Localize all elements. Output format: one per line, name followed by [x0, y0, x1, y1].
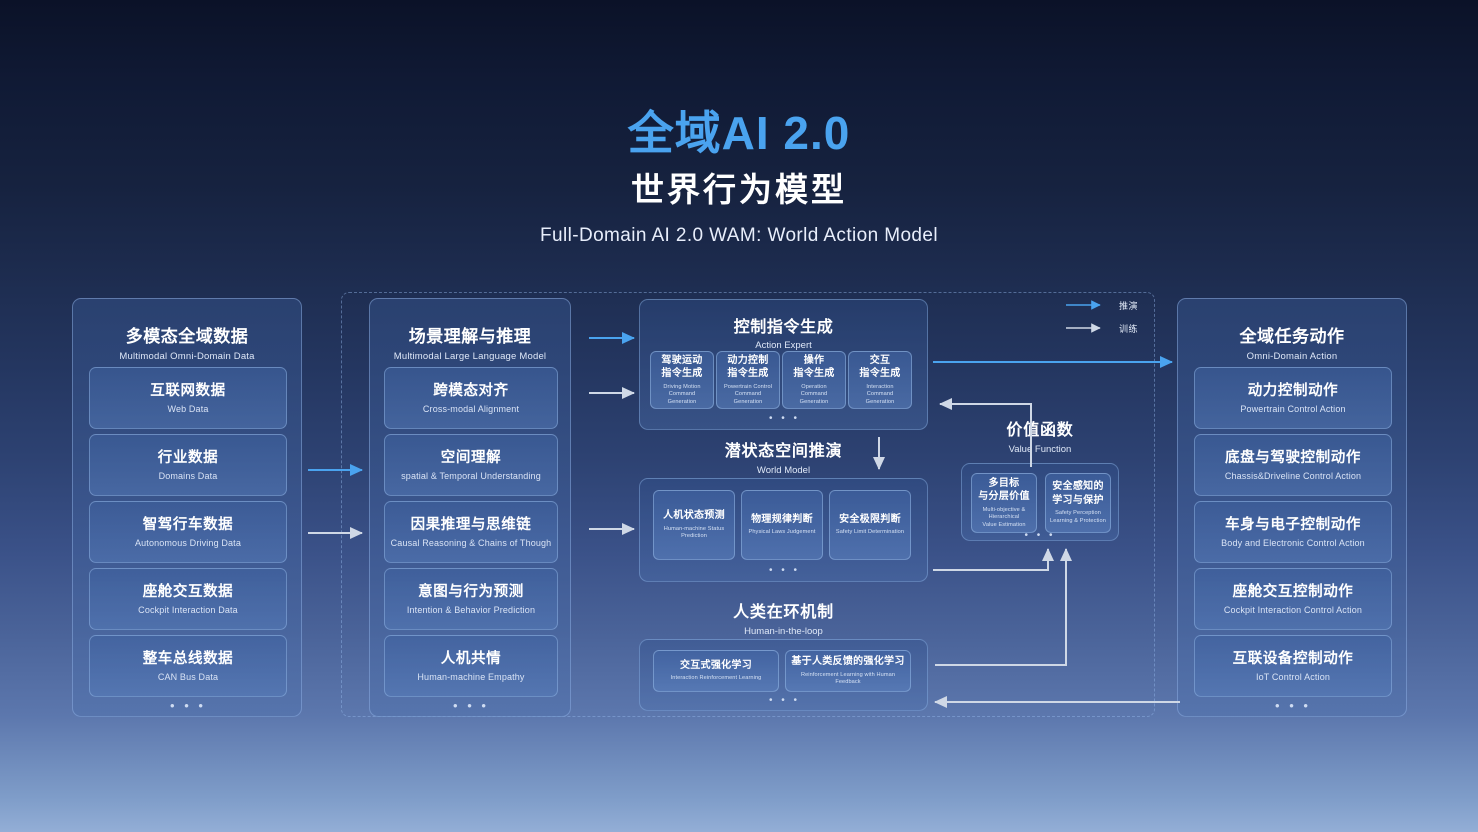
card-title: 底盘与驾驶控制动作	[1225, 449, 1361, 467]
minicard-sub-line1: Multi-objective & Hierarchical	[975, 507, 1033, 522]
minicard-sub-line1: Driving Motion	[663, 384, 700, 392]
card-title: 跨模态对齐	[433, 382, 509, 400]
card-title: 空间理解	[441, 449, 501, 467]
card-title: 互联设备控制动作	[1233, 650, 1354, 668]
minicard-title-line2: 与分层价值	[978, 490, 1030, 504]
card-subtitle: Cockpit Interaction Data	[138, 605, 238, 616]
minicard-sub-line2: Command Generation	[852, 391, 908, 406]
minicard-driving-motion-command[interactable]: 驾驶运动 指令生成 Driving Motion Command Generat…	[650, 351, 714, 409]
legend-item-training: 训练	[1066, 321, 1138, 335]
minicard-safety-perception-learning[interactable]: 安全感知的 学习与保护 Safety Perception Learning &…	[1045, 473, 1111, 533]
more-dots: • • •	[640, 696, 929, 706]
card-title: 因果推理与思维链	[411, 516, 532, 534]
minicard-title: 交互式强化学习	[680, 659, 752, 673]
card-title: 座舱交互数据	[143, 583, 234, 601]
minicard-title-line1: 动力控制	[727, 354, 768, 368]
card-title: 人机共情	[441, 650, 501, 668]
card-powertrain-control-action[interactable]: 动力控制动作 Powertrain Control Action	[1194, 367, 1392, 429]
card-subtitle: Causal Reasoning & Chains of Though	[391, 538, 552, 549]
minicard-title: 基于人类反馈的强化学习	[791, 655, 904, 669]
section-title-world-model: 潜状态空间推演 World Model	[639, 437, 928, 476]
more-dots: • • •	[1178, 699, 1408, 712]
card-subtitle: Cross-modal Alignment	[423, 404, 519, 415]
card-subtitle: IoT Control Action	[1256, 672, 1330, 683]
card-subtitle: Autonomous Driving Data	[135, 538, 241, 549]
minicard-human-machine-status-prediction[interactable]: 人机状态预测 Human-machine Status Prediction	[653, 490, 735, 560]
card-subtitle: Web Data	[167, 404, 208, 415]
minicard-title-line2: 指令生成	[727, 367, 768, 381]
section-title-value-function: 价值函数 Value Function	[960, 416, 1120, 455]
card-subtitle: Domains Data	[159, 471, 218, 482]
section-title-en: Value Function	[960, 444, 1120, 455]
minicard-multi-objective-hierarchical-value[interactable]: 多目标 与分层价值 Multi-objective & Hierarchical…	[971, 473, 1037, 533]
group-world-model: 人机状态预测 Human-machine Status Prediction 物…	[639, 478, 928, 582]
card-title: 车身与电子控制动作	[1225, 516, 1361, 534]
card-subtitle: Cockpit Interaction Control Action	[1224, 605, 1362, 616]
card-subtitle: Human-machine Empathy	[417, 672, 524, 683]
minicard-title: 安全极限判断	[839, 513, 901, 527]
card-title: 互联网数据	[150, 382, 226, 400]
panel-multimodal-data: 多模态全域数据 Multimodal Omni-Domain Data 互联网数…	[72, 298, 302, 717]
card-intention-behavior-prediction[interactable]: 意图与行为预测 Intention & Behavior Prediction	[384, 568, 558, 630]
card-cockpit-interaction-data[interactable]: 座舱交互数据 Cockpit Interaction Data	[89, 568, 287, 630]
section-title-cn: 价值函数	[960, 416, 1120, 440]
card-cross-modal-alignment[interactable]: 跨模态对齐 Cross-modal Alignment	[384, 367, 558, 429]
minicard-sub-line2: Command Generation	[786, 391, 842, 406]
minicard-interaction-reinforcement-learning[interactable]: 交互式强化学习 Interaction Reinforcement Learni…	[653, 650, 779, 692]
minicard-rlhf[interactable]: 基于人类反馈的强化学习 Reinforcement Learning with …	[785, 650, 911, 692]
minicard-sub-line1: Powertrain Control	[724, 384, 772, 392]
minicard-operation-command[interactable]: 操作 指令生成 Operation Command Generation	[782, 351, 846, 409]
page-subtitle-cn: 世界行为模型	[0, 171, 1478, 209]
card-human-machine-empathy[interactable]: 人机共情 Human-machine Empathy	[384, 635, 558, 697]
card-subtitle: CAN Bus Data	[158, 672, 218, 683]
group-action-expert-title: 控制指令生成	[640, 313, 927, 337]
card-can-bus-data[interactable]: 整车总线数据 CAN Bus Data	[89, 635, 287, 697]
card-subtitle: Body and Electronic Control Action	[1221, 538, 1365, 549]
minicard-title-line1: 交互	[870, 354, 891, 368]
title-block: 全域AI 2.0 世界行为模型 Full-Domain AI 2.0 WAM: …	[0, 108, 1478, 247]
card-web-data[interactable]: 互联网数据 Web Data	[89, 367, 287, 429]
minicard-subtitle: Interaction Reinforcement Learning	[671, 675, 762, 683]
card-title: 整车总线数据	[143, 650, 234, 668]
minicard-subtitle: Human-machine Status Prediction	[657, 526, 731, 541]
section-title-cn: 潜状态空间推演	[639, 437, 928, 461]
card-title: 座舱交互控制动作	[1233, 583, 1354, 601]
minicard-title-line1: 操作	[804, 354, 825, 368]
legend: 推演 训练	[1066, 298, 1138, 344]
group-action-expert: 控制指令生成 Action Expert 驾驶运动 指令生成 Driving M…	[639, 299, 928, 430]
group-human-in-loop: 交互式强化学习 Interaction Reinforcement Learni…	[639, 639, 928, 711]
card-causal-reasoning[interactable]: 因果推理与思维链 Causal Reasoning & Chains of Th…	[384, 501, 558, 563]
minicard-interaction-command[interactable]: 交互 指令生成 Interaction Command Generation	[848, 351, 912, 409]
panel-omni-domain-action-title: 全域任务动作	[1178, 322, 1406, 347]
card-spatial-understanding[interactable]: 空间理解 spatial & Temporal Understanding	[384, 434, 558, 496]
panel-scene-understanding: 场景理解与推理 Multimodal Large Language Model …	[369, 298, 571, 717]
card-subtitle: Intention & Behavior Prediction	[407, 605, 535, 616]
minicard-physical-laws-judgement[interactable]: 物理规律判断 Physical Laws Judgement	[741, 490, 823, 560]
minicard-subtitle: Reinforcement Learning with Human Feedba…	[789, 672, 907, 687]
card-title: 动力控制动作	[1248, 382, 1339, 400]
minicard-sub-line1: Operation	[801, 384, 826, 392]
more-dots: • • •	[640, 414, 929, 424]
more-dots: • • •	[961, 531, 1119, 541]
legend-label: 训练	[1119, 322, 1138, 335]
inference-arrow-icon	[1066, 299, 1108, 311]
minicard-sub-line2: Command Generation	[654, 391, 710, 406]
card-chassis-driveline-control-action[interactable]: 底盘与驾驶控制动作 Chassis&Driveline Control Acti…	[1194, 434, 1392, 496]
panel-multimodal-data-subtitle: Multimodal Omni-Domain Data	[73, 351, 301, 362]
more-dots: • • •	[73, 699, 303, 712]
card-iot-control-action[interactable]: 互联设备控制动作 IoT Control Action	[1194, 635, 1392, 697]
section-title-cn: 人类在环机制	[639, 598, 928, 622]
page-title-en: Full-Domain AI 2.0 WAM: World Action Mod…	[0, 225, 1478, 247]
card-subtitle: spatial & Temporal Understanding	[401, 471, 541, 482]
minicard-sub-line1: Safety Perception	[1055, 510, 1101, 518]
minicard-sub-line2: Value Estimation	[982, 522, 1025, 530]
minicard-sub-line2: Learning & Protection	[1050, 518, 1106, 526]
more-dots: • • •	[640, 566, 929, 576]
training-arrow-icon	[1066, 322, 1108, 334]
section-title-en: Human-in-the-loop	[639, 626, 928, 637]
card-autonomous-driving-data[interactable]: 智驾行车数据 Autonomous Driving Data	[89, 501, 287, 563]
minicard-title-line2: 指令生成	[793, 367, 834, 381]
minicard-powertrain-control-command[interactable]: 动力控制 指令生成 Powertrain Control Command Gen…	[716, 351, 780, 409]
minicard-title-line2: 指令生成	[661, 367, 702, 381]
minicard-subtitle: Physical Laws Judgement	[749, 529, 816, 537]
group-action-expert-subtitle: Action Expert	[640, 340, 927, 351]
minicard-sub-line2: Command Generation	[720, 391, 776, 406]
card-title: 行业数据	[158, 449, 218, 467]
panel-multimodal-data-title: 多模态全域数据	[73, 322, 301, 347]
minicard-title-line1: 驾驶运动	[661, 354, 702, 368]
minicard-title-line1: 安全感知的	[1052, 480, 1104, 494]
card-subtitle: Powertrain Control Action	[1240, 404, 1345, 415]
panel-scene-understanding-subtitle: Multimodal Large Language Model	[370, 351, 570, 362]
minicard-title-line2: 指令生成	[859, 367, 900, 381]
legend-label: 推演	[1119, 299, 1138, 312]
more-dots: • • •	[370, 699, 572, 712]
minicard-title-line2: 学习与保护	[1052, 494, 1104, 508]
card-title: 智驾行车数据	[143, 516, 234, 534]
panel-scene-understanding-title: 场景理解与推理	[370, 322, 570, 347]
diagram-canvas: 全域AI 2.0 世界行为模型 Full-Domain AI 2.0 WAM: …	[0, 0, 1478, 832]
panel-omni-domain-action-subtitle: Omni-Domain Action	[1178, 351, 1406, 362]
legend-item-inference: 推演	[1066, 298, 1138, 312]
minicard-title-line1: 多目标	[989, 477, 1020, 491]
minicard-title: 人机状态预测	[663, 509, 725, 523]
minicard-subtitle: Safety Limit Determination	[836, 529, 904, 537]
card-body-electronic-control-action[interactable]: 车身与电子控制动作 Body and Electronic Control Ac…	[1194, 501, 1392, 563]
section-title-human-in-loop: 人类在环机制 Human-in-the-loop	[639, 598, 928, 637]
card-cockpit-interaction-control-action[interactable]: 座舱交互控制动作 Cockpit Interaction Control Act…	[1194, 568, 1392, 630]
minicard-safety-limit-determination[interactable]: 安全极限判断 Safety Limit Determination	[829, 490, 911, 560]
minicard-title: 物理规律判断	[751, 513, 813, 527]
minicard-sub-line1: Interaction	[866, 384, 893, 392]
page-title-cn: 全域AI 2.0	[0, 108, 1478, 159]
section-title-en: World Model	[639, 465, 928, 476]
panel-omni-domain-action: 全域任务动作 Omni-Domain Action 动力控制动作 Powertr…	[1177, 298, 1407, 717]
card-subtitle: Chassis&Driveline Control Action	[1225, 471, 1361, 482]
card-title: 意图与行为预测	[418, 583, 524, 601]
card-domains-data[interactable]: 行业数据 Domains Data	[89, 434, 287, 496]
